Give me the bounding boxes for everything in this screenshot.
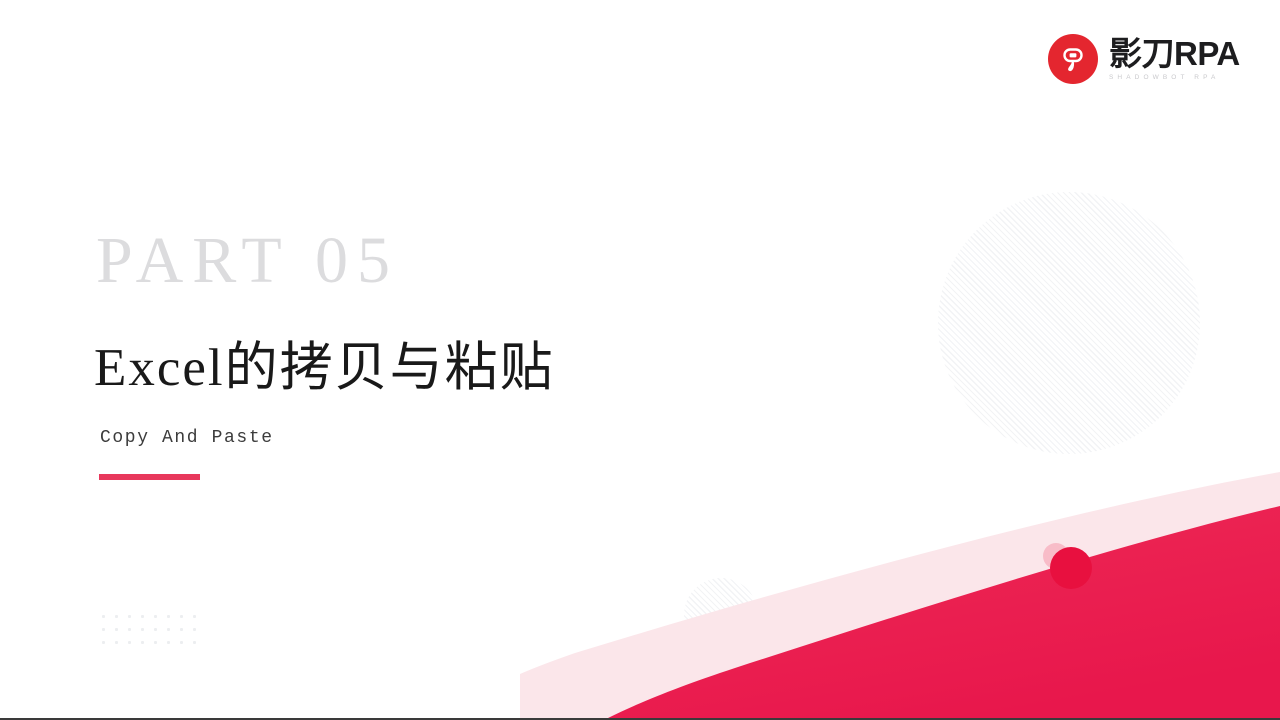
accent-dot-pale <box>1043 543 1069 569</box>
part-label: PART 05 <box>96 228 399 294</box>
slide-subtitle: Copy And Paste <box>100 428 274 448</box>
logo-tagline: SHADOWBOT RPA <box>1109 75 1240 82</box>
logo-wordmark: 影刀RPA <box>1109 37 1240 70</box>
hatched-circle-small <box>684 578 758 652</box>
accent-dot-solid <box>1050 547 1092 589</box>
slide-canvas: 影刀RPA SHADOWBOT RPA PART 05 Excel的拷贝与粘贴 … <box>0 0 1280 720</box>
hatched-circle-large <box>938 192 1200 454</box>
wave-shape-pale <box>520 468 1280 718</box>
wave-shape-solid <box>520 468 1280 718</box>
shadowbot-blade-icon <box>1048 34 1098 84</box>
title-accent-bar <box>99 474 200 480</box>
logo-text-block: 影刀RPA SHADOWBOT RPA <box>1109 37 1240 82</box>
dot-grid-decoration <box>97 610 201 653</box>
page-title: Excel的拷贝与粘贴 <box>94 338 555 399</box>
brand-logo: 影刀RPA SHADOWBOT RPA <box>1048 34 1240 84</box>
